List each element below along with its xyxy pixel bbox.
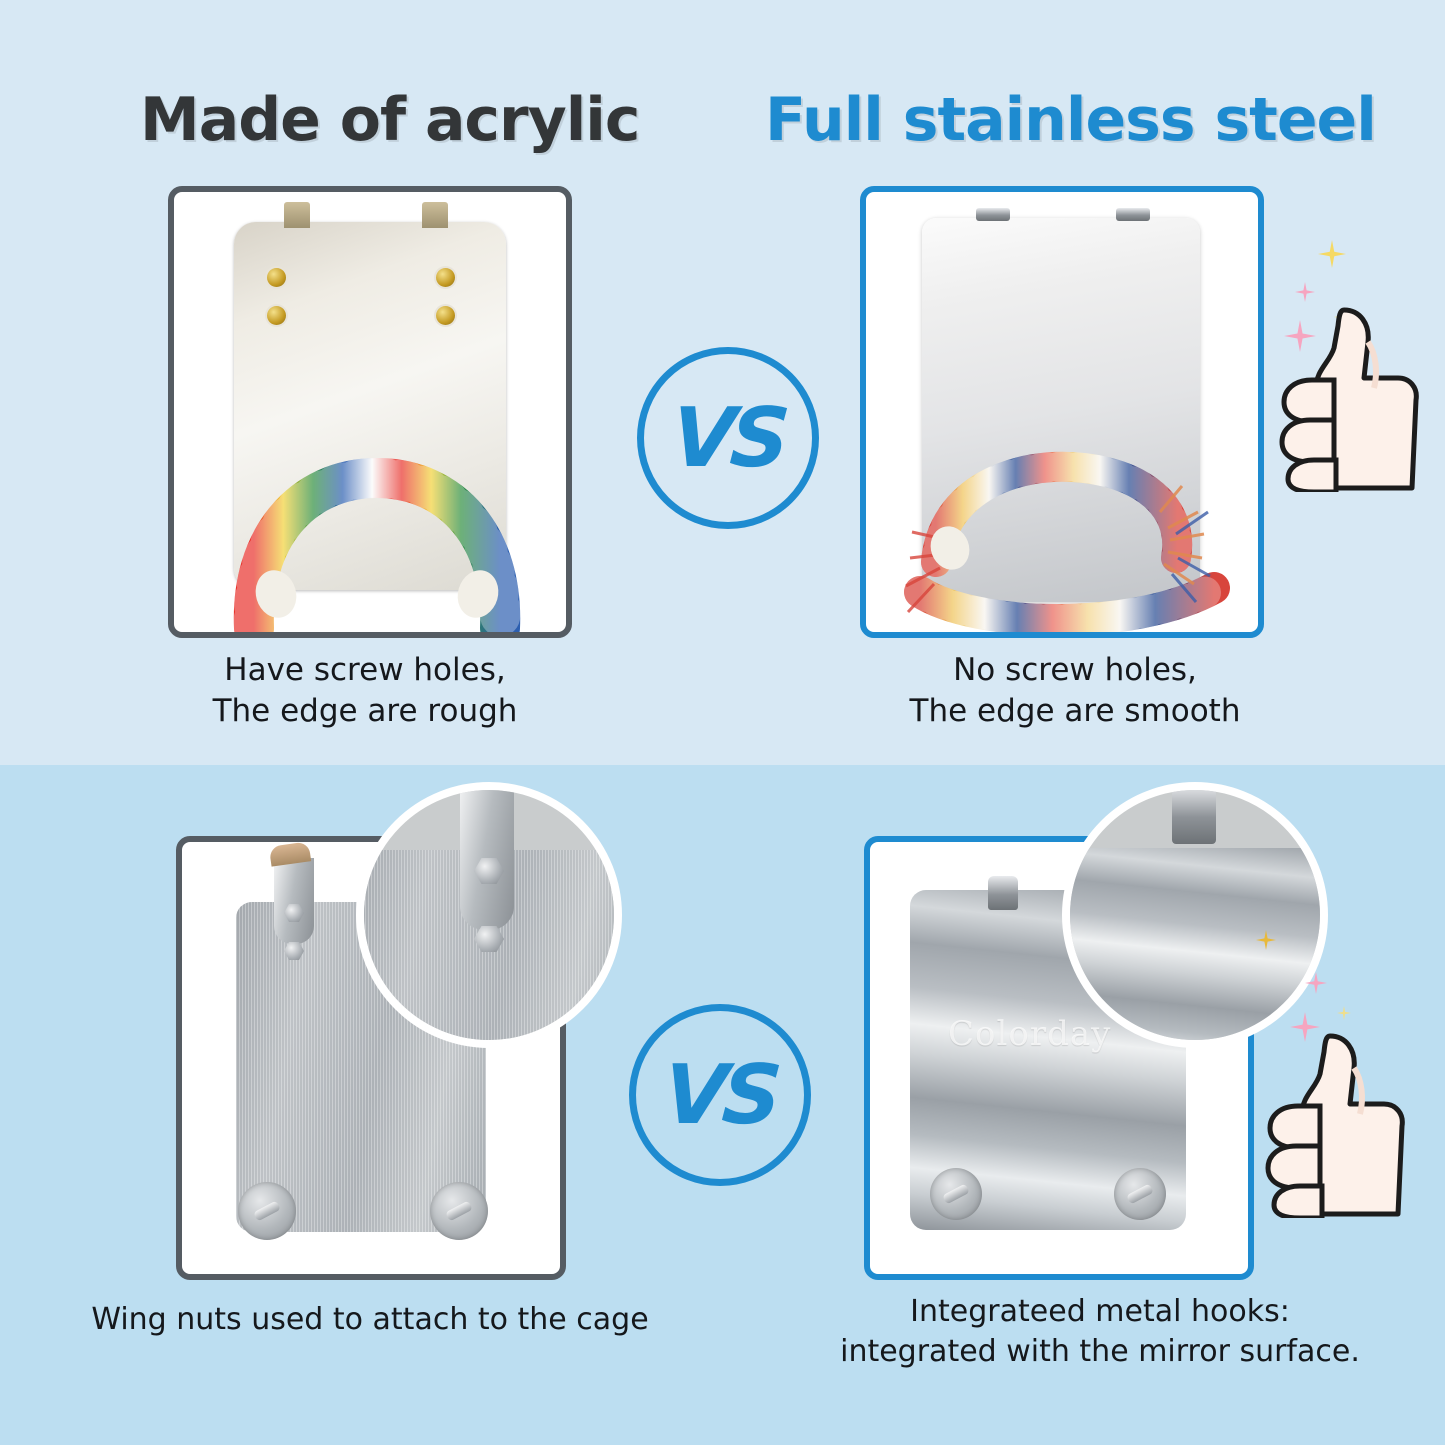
caption-wing-nuts: Wing nuts used to attach to the cage <box>60 1300 680 1340</box>
rainbow-rope-perch <box>232 442 522 632</box>
screw-bottom-left <box>267 306 286 325</box>
wing-nut-left-wing <box>253 1200 281 1221</box>
screw-top-left <box>267 268 286 287</box>
infographic-page: Made of acrylic Full stainless steel <box>0 0 1445 1445</box>
rivet-left-wing <box>942 1183 970 1204</box>
caption-steel-top: No screw holes, The edge are smooth <box>830 650 1320 732</box>
vs-badge-top: VS <box>637 347 819 529</box>
acrylic-tab-right <box>422 202 448 228</box>
wing-nut-left <box>238 1182 296 1240</box>
vs-badge-top-label: VS <box>668 391 787 486</box>
sparkle-icon-yellow-top <box>1318 240 1346 268</box>
acrylic-tab-left <box>284 202 310 228</box>
hook-with-bolts <box>274 858 314 944</box>
thumbs-up-icon-bottom <box>1258 1018 1408 1218</box>
caption-integrated-hooks: Integrateed metal hooks: integrated with… <box>790 1292 1410 1371</box>
heading-stainless-steel: Full stainless steel <box>765 85 1376 155</box>
rivet-left <box>930 1168 982 1220</box>
vs-badge-bottom-label: VS <box>660 1048 779 1143</box>
screw-top-right <box>436 268 455 287</box>
thumbs-up-icon-top <box>1272 292 1422 492</box>
screw-bottom-right <box>436 306 455 325</box>
integrated-hook-bottom <box>988 876 1018 910</box>
integrated-hook-left <box>976 208 1010 221</box>
magnified-integrated-hook <box>1172 784 1216 844</box>
vs-badge-bottom: VS <box>629 1004 811 1186</box>
heading-acrylic: Made of acrylic <box>140 85 639 155</box>
wing-nut-right-wing <box>445 1200 473 1221</box>
caption-acrylic-top: Have screw holes, The edge are rough <box>120 650 610 732</box>
rivet-right <box>1114 1168 1166 1220</box>
rainbow-rope-ring <box>884 442 1252 637</box>
wing-nut-right <box>430 1182 488 1240</box>
magnifier-detail-circle-right <box>1062 782 1328 1048</box>
integrated-hook-right <box>1116 208 1150 221</box>
sparkle-icon-pink-bottom-small <box>1305 972 1327 994</box>
magnifier-detail-circle-left <box>356 782 622 1048</box>
rivet-right-wing <box>1126 1183 1154 1204</box>
photo-acrylic-mirror <box>168 186 572 638</box>
sparkle-icon-in-magnifier <box>1256 930 1276 950</box>
magnified-hook-left <box>460 782 514 930</box>
photo-steel-mirror <box>860 186 1264 638</box>
